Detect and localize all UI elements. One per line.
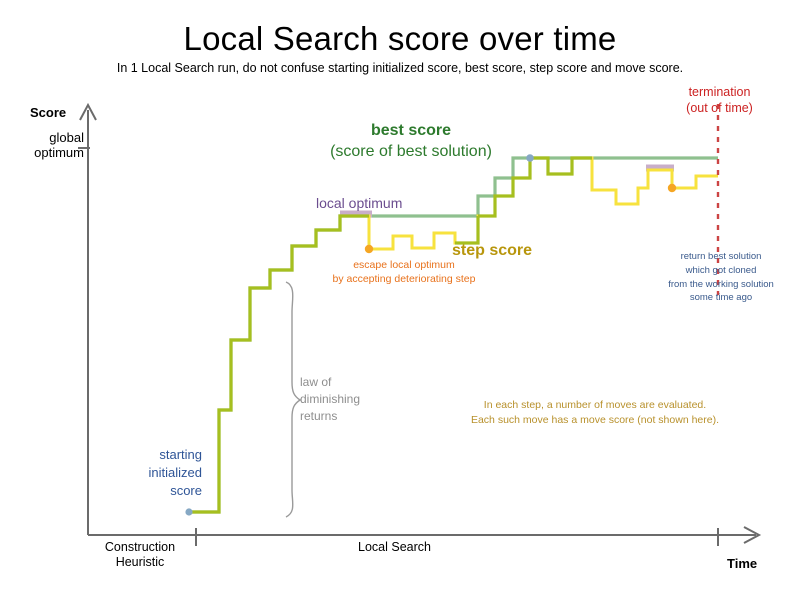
starting-initialized-score-label: starting initialized score <box>120 446 202 501</box>
return-best-solution-note: return best solution which got cloned fr… <box>636 250 800 305</box>
best-score-sublabel: (score of best solution) <box>276 143 546 162</box>
diagram-canvas: Local Search score over time In 1 Local … <box>0 0 800 600</box>
global-optimum-label: global optimum <box>12 130 84 161</box>
best-score-line <box>189 158 718 512</box>
moves-evaluated-note: In each step, a number of moves are eval… <box>420 398 770 428</box>
second-escape-dot <box>668 184 676 192</box>
phase-label-construction-heuristic: Construction Heuristic <box>86 540 194 570</box>
diminishing-returns-label: law of diminishing returns <box>300 374 360 425</box>
local-optimum-label: local optimum <box>316 195 402 212</box>
escape-local-optimum-dot <box>365 245 373 253</box>
diminishing-returns-brace <box>286 282 300 517</box>
improving-steps-rise-to-best <box>455 216 478 243</box>
x-axis-label: Time <box>727 556 757 571</box>
escape-local-optimum-note: escape local optimum by accepting deteri… <box>300 258 508 286</box>
y-axis-label: Score <box>30 105 66 120</box>
termination-label: termination (out of time) <box>648 85 791 116</box>
page-subtitle: In 1 Local Search run, do not confuse st… <box>0 61 800 76</box>
phase-label-local-search: Local Search <box>358 540 431 555</box>
best-score-label: best score <box>286 122 536 141</box>
page-title: Local Search score over time <box>0 20 800 59</box>
starting-initialized-score-dot <box>185 508 192 515</box>
